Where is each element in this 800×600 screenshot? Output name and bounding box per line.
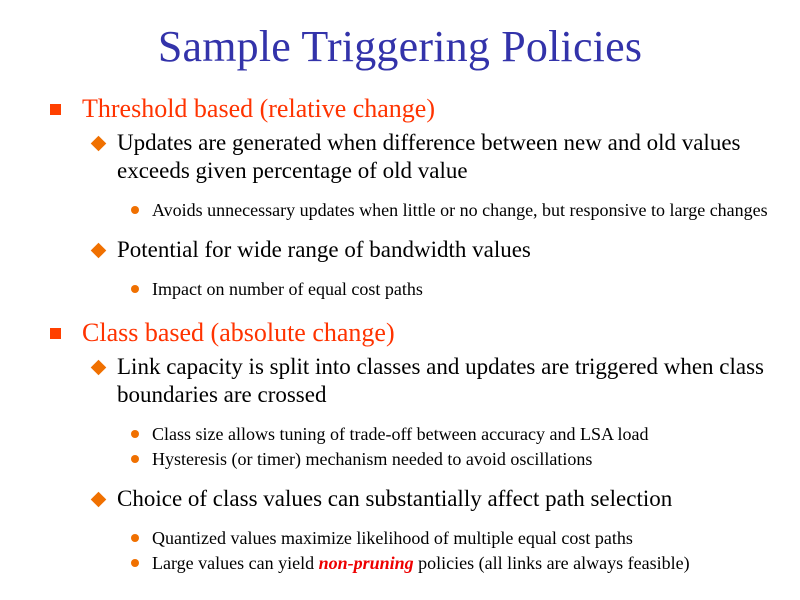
spacer <box>0 223 800 233</box>
bullet-level3-large-values-non-pruning: Large values can yield non-pruning polic… <box>0 551 800 575</box>
diamond-bullet-icon <box>91 243 107 259</box>
spacer <box>0 302 800 316</box>
bullet-level1-threshold-based: Threshold based (relative change) <box>0 92 800 125</box>
bullet-level3-label: Impact on number of equal cost paths <box>152 277 776 301</box>
diamond-bullet-icon <box>91 360 107 376</box>
bullet-level2-label: Potential for wide range of bandwidth va… <box>117 236 778 264</box>
disc-bullet-icon <box>131 559 139 567</box>
bullet-level2-link-capacity-split: Link capacity is split into classes and … <box>0 353 800 409</box>
bullet-level1-label: Class based (absolute change) <box>82 316 800 349</box>
spacer <box>0 266 800 276</box>
bullet-level2-choice-of-class-values: Choice of class values can substantially… <box>0 485 800 513</box>
disc-bullet-icon <box>131 534 139 542</box>
bullet-level3-label: Class size allows tuning of trade-off be… <box>152 422 776 446</box>
bullet-level2-potential-wide-range: Potential for wide range of bandwidth va… <box>0 236 800 264</box>
slide-body: Threshold based (relative change) Update… <box>0 92 800 576</box>
spacer <box>0 411 800 421</box>
square-bullet-icon <box>50 104 61 115</box>
spacer <box>0 187 800 197</box>
bullet-level3-class-size-tuning: Class size allows tuning of trade-off be… <box>0 422 800 446</box>
bullet-level3-hysteresis-mechanism: Hysteresis (or timer) mechanism needed t… <box>0 447 800 471</box>
bullet-level3-label: Avoids unnecessary updates when little o… <box>152 198 776 222</box>
bullet-level3-label: Hysteresis (or timer) mechanism needed t… <box>152 447 776 471</box>
bullet-level2-label: Link capacity is split into classes and … <box>117 353 778 409</box>
page-title: Sample Triggering Policies <box>0 22 800 72</box>
bullet-level3-label: Large values can yield non-pruning polic… <box>152 551 776 575</box>
spacer <box>0 472 800 482</box>
bullet-level2-label: Updates are generated when difference be… <box>117 129 778 185</box>
square-bullet-icon <box>50 328 61 339</box>
bullet-level3-avoids-unnecessary-updates: Avoids unnecessary updates when little o… <box>0 198 800 222</box>
bullet-level2-updates-generated: Updates are generated when difference be… <box>0 129 800 185</box>
bullet-level2-label: Choice of class values can substantially… <box>117 485 778 513</box>
bullet-level3-quantized-values: Quantized values maximize likelihood of … <box>0 526 800 550</box>
bullet-level3-impact-equal-cost-paths: Impact on number of equal cost paths <box>0 277 800 301</box>
diamond-bullet-icon <box>91 136 107 152</box>
spacer <box>0 515 800 525</box>
presentation-slide: Sample Triggering Policies Threshold bas… <box>0 0 800 600</box>
bullet-text-prefix: Large values can yield <box>152 553 319 573</box>
disc-bullet-icon <box>131 206 139 214</box>
bullet-text-suffix: policies (all links are always feasible) <box>414 553 690 573</box>
bullet-level1-class-based: Class based (absolute change) <box>0 316 800 349</box>
bullet-level3-label: Quantized values maximize likelihood of … <box>152 526 776 550</box>
emphasis-non-pruning: non-pruning <box>319 553 414 573</box>
bullet-level1-label: Threshold based (relative change) <box>82 92 800 125</box>
diamond-bullet-icon <box>91 492 107 508</box>
disc-bullet-icon <box>131 455 139 463</box>
disc-bullet-icon <box>131 285 139 293</box>
disc-bullet-icon <box>131 430 139 438</box>
